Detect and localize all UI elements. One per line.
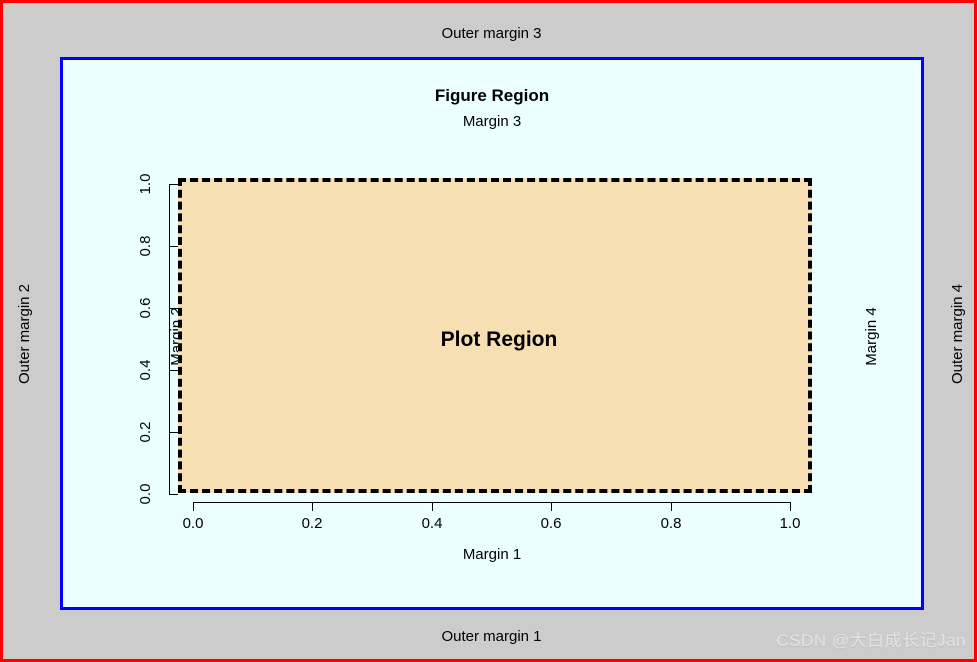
y-tick-label-1.0: 1.0: [137, 161, 155, 207]
x-tick-label-1.0: 1.0: [767, 515, 813, 532]
x-tick-0.8: [671, 502, 672, 511]
outer-margin-2-label: Outer margin 2: [17, 3, 47, 662]
csdn-watermark: CSDN @大白成长记Jan: [776, 626, 966, 651]
plot-region-label: Plot Region: [182, 182, 816, 497]
x-tick-label-0.2: 0.2: [289, 515, 335, 532]
x-tick-0.2: [312, 502, 313, 511]
plot-region: Plot Region: [178, 178, 812, 493]
y-tick-0.0: [169, 494, 178, 495]
x-tick-0.4: [432, 502, 433, 511]
outer-margin-4-label: Outer margin 4: [950, 3, 977, 662]
x-tick-0.0: [193, 502, 194, 511]
device-region: Outer margin 3 Outer margin 1 Outer marg…: [0, 0, 977, 662]
x-axis-line: [193, 502, 791, 503]
outer-margin-3-label: Outer margin 3: [3, 26, 977, 41]
x-tick-1.0: [790, 502, 791, 511]
figure-region: Figure Region Margin 3 Margin 1 Margin 2…: [60, 57, 924, 610]
x-tick-label-0.8: 0.8: [648, 515, 694, 532]
x-tick-label-0.6: 0.6: [528, 515, 574, 532]
y-tick-label-0.6: 0.6: [137, 285, 155, 331]
y-tick-0.8: [169, 246, 178, 247]
y-tick-label-0.0: 0.0: [137, 471, 155, 517]
y-tick-label-0.4: 0.4: [137, 347, 155, 393]
margin-4-label: Margin 4: [863, 60, 889, 613]
x-tick-label-0.0: 0.0: [170, 515, 216, 532]
x-tick-label-0.4: 0.4: [409, 515, 455, 532]
y-tick-label-0.8: 0.8: [137, 223, 155, 269]
y-tick-0.6: [169, 308, 178, 309]
y-axis-line: [169, 184, 170, 494]
y-tick-1.0: [169, 184, 178, 185]
y-tick-0.2: [169, 432, 178, 433]
y-tick-label-0.2: 0.2: [137, 409, 155, 455]
x-tick-0.6: [551, 502, 552, 511]
y-tick-0.4: [169, 370, 178, 371]
